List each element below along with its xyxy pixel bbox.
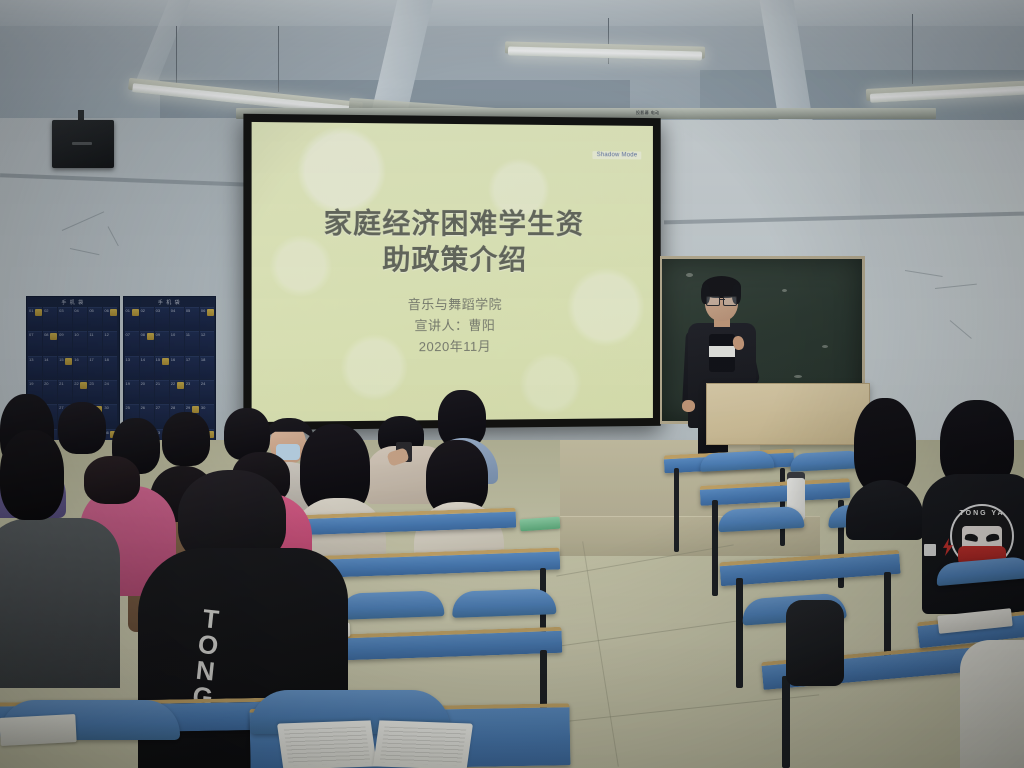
pocket-cell[interactable]: 08 (140, 331, 154, 354)
pocket-number: 23 (186, 381, 190, 386)
projection-screen: Shadow Mode 家庭经济困难学生资 助政策介绍 音乐与舞蹈学院 宣讲人：… (243, 114, 660, 430)
pocket-cell[interactable]: 08 (43, 331, 57, 354)
pocket-number: 02 (141, 308, 145, 313)
student-torso (846, 480, 924, 540)
desk-leg-r4a (782, 676, 790, 768)
presenter-left-hand (682, 400, 695, 412)
student-beige-center (420, 440, 496, 552)
pocket-cell[interactable]: 12 (200, 331, 214, 354)
pocket-number: 13 (126, 357, 130, 362)
pocket-number: 08 (141, 332, 145, 337)
pocket-number: 05 (186, 308, 190, 313)
hoodie-emblem-text: TONG YA (946, 510, 1018, 517)
pocket-number: 24 (201, 381, 205, 386)
pocket-cell[interactable]: 23 (88, 380, 102, 403)
pocket-cell[interactable]: 12 (103, 331, 117, 354)
slide-subtitle-presenter: 宣讲人：曹阳 (252, 314, 653, 337)
student-torso (0, 518, 120, 688)
student-torso (960, 640, 1024, 768)
pocket-number: 19 (126, 381, 130, 386)
slide-surface: Shadow Mode 家庭经济困难学生资 助政策介绍 音乐与舞蹈学院 宣讲人：… (252, 122, 653, 422)
pocket-cell[interactable]: 22 (73, 380, 87, 403)
pocket-number: 20 (44, 381, 48, 386)
pocket-number: 03 (59, 308, 63, 313)
pocket-number: 27 (156, 405, 160, 410)
pocket-cell[interactable]: 23 (185, 380, 199, 403)
pocket-cell[interactable]: 18 (200, 356, 214, 379)
pocket-number: 25 (126, 405, 130, 410)
pocket-cell[interactable]: 24 (200, 380, 214, 403)
chalk-mark-4 (794, 375, 802, 378)
pocket-number: 10 (74, 332, 78, 337)
pocket-cell[interactable]: 17 (185, 356, 199, 379)
desk-leg-r3a (736, 578, 743, 688)
pocket-number: 29 (186, 405, 190, 410)
pocket-cell[interactable]: 17 (88, 356, 102, 379)
hoodie-number-tag (924, 544, 936, 556)
pocket-cell[interactable]: 11 (88, 331, 102, 354)
pocket-number: 20 (141, 381, 145, 386)
pocket-number: 04 (74, 308, 78, 313)
pocket-number: 18 (104, 357, 108, 362)
stored-phone (35, 309, 42, 316)
student-right-1 (846, 398, 924, 528)
pocket-number: 26 (141, 405, 145, 410)
pocket-cell[interactable]: 15 (58, 356, 72, 379)
pocket-cell[interactable]: 03 (58, 307, 72, 330)
pocket-cell[interactable]: 13 (28, 356, 42, 379)
open-book (280, 722, 472, 768)
pocket-number: 07 (126, 332, 130, 337)
pocket-cell[interactable]: 05 (88, 307, 102, 330)
pocket-number: 06 (104, 308, 108, 313)
projector-housing-label: 投影幕 电动 (636, 110, 660, 116)
book-text-lines (380, 727, 467, 766)
pocket-cell[interactable]: 10 (73, 331, 87, 354)
pocket-cell[interactable]: 01 (125, 307, 139, 330)
pocket-number: 21 (156, 381, 160, 386)
pocket-number: 22 (74, 381, 78, 386)
pocket-number: 14 (141, 357, 145, 362)
pocket-cell[interactable]: 03 (155, 307, 169, 330)
pocket-number: 16 (74, 357, 78, 362)
stored-phone (132, 309, 139, 316)
backpack (786, 600, 844, 686)
pocket-number: 07 (29, 332, 33, 337)
pocket-number: 23 (89, 381, 93, 386)
pocket-cell[interactable]: 02 (140, 307, 154, 330)
pocket-cell[interactable]: 15 (155, 356, 169, 379)
stored-phone (80, 382, 87, 389)
pocket-number: 06 (201, 308, 205, 313)
pocket-row: 131415161718 (28, 356, 118, 379)
chalk-mark-2 (782, 289, 787, 292)
pocket-number: 09 (156, 332, 160, 337)
glasses-icon (706, 296, 737, 304)
pocket-panel-left-header: 手 机 袋 (28, 298, 118, 307)
pocket-number: 14 (44, 357, 48, 362)
pocket-row: 010203040506 (125, 307, 215, 330)
slide-subtitle-block: 音乐与舞蹈学院 宣讲人：曹阳 2020年11月 (252, 294, 653, 359)
glasses-bridge (719, 299, 725, 300)
pocket-cell[interactable]: 18 (103, 356, 117, 379)
pocket-number: 19 (29, 381, 33, 386)
pocket-number: 13 (29, 357, 33, 362)
pocket-row: 192021222324 (125, 380, 215, 403)
slide-subtitle-department: 音乐与舞蹈学院 (252, 294, 653, 316)
student-hair (0, 430, 64, 520)
pocket-cell[interactable]: 11 (185, 331, 199, 354)
pocket-panel-right-header: 手 机 袋 (125, 298, 215, 307)
pocket-number: 30 (201, 405, 205, 410)
slide-title-line1: 家庭经济困难学生资 (282, 205, 623, 242)
pocket-cell[interactable]: 20 (140, 380, 154, 403)
pocket-number: 12 (104, 332, 108, 337)
desk-leg-r2a (712, 500, 718, 596)
chalk-mark-3 (822, 345, 828, 348)
book-page-left (277, 720, 377, 768)
presenter-shirt-stripe (709, 346, 735, 357)
pocket-cell[interactable]: 14 (43, 356, 57, 379)
chair-right-3 (717, 506, 804, 532)
desk-leg-r1a (674, 468, 679, 552)
pocket-cell[interactable]: 06 (103, 307, 117, 330)
pocket-cell[interactable]: 16 (170, 356, 184, 379)
classroom-scene: 投影幕 电动 Shadow Mode 家庭经济困难学生资 助政策介绍 音乐与舞蹈… (0, 0, 1024, 768)
pocket-number: 04 (171, 308, 175, 313)
pocket-number: 17 (89, 357, 93, 362)
pocket-cell[interactable]: 09 (155, 331, 169, 354)
pocket-cell[interactable]: 24 (103, 380, 117, 403)
stored-phone (207, 309, 214, 316)
pocket-cell[interactable]: 14 (140, 356, 154, 379)
stored-phone (110, 309, 117, 316)
student-back-6 (160, 412, 216, 472)
shadow-mode-badge: Shadow Mode (593, 151, 641, 159)
pocket-number: 21 (59, 381, 63, 386)
light-wire-4 (912, 14, 913, 84)
stored-phone (65, 358, 72, 365)
speaker-badge (72, 142, 92, 145)
pocket-cell[interactable]: 01 (28, 307, 42, 330)
pocket-number: 22 (171, 381, 175, 386)
pocket-number: 03 (156, 308, 160, 313)
pocket-cell[interactable]: 21 (155, 380, 169, 403)
pocket-cell[interactable]: 10 (170, 331, 184, 354)
chair-mid-2 (452, 588, 557, 618)
stored-phone (177, 382, 184, 389)
pocket-number: 01 (126, 308, 130, 313)
stored-phone (147, 333, 154, 340)
pocket-cell[interactable]: 02 (43, 307, 57, 330)
student-hair (162, 412, 210, 466)
book-page-right (373, 720, 473, 768)
pocket-number: 28 (171, 405, 175, 410)
pocket-row: 010203040506 (28, 307, 118, 330)
student-hair (84, 456, 140, 504)
pocket-number: 10 (171, 332, 175, 337)
pocket-number: 05 (89, 308, 93, 313)
book-text-lines (284, 727, 371, 766)
pocket-cell[interactable]: 04 (73, 307, 87, 330)
pocket-cell[interactable]: 07 (125, 331, 139, 354)
slide-subtitle-date: 2020年11月 (252, 335, 653, 358)
pocket-number: 15 (59, 357, 63, 362)
chair-mid-1 (340, 590, 445, 620)
pocket-number: 15 (156, 357, 160, 362)
pocket-number: 08 (44, 332, 48, 337)
stored-phone (50, 333, 57, 340)
pocket-row: 070809101112 (28, 331, 118, 354)
pocket-number: 02 (44, 308, 48, 313)
pocket-row: 131415161718 (125, 356, 215, 379)
pocket-cell[interactable]: 19 (125, 380, 139, 403)
ceiling-beam-front (0, 0, 1024, 26)
pocket-number: 17 (186, 357, 190, 362)
pocket-cell[interactable]: 06 (200, 307, 214, 330)
pocket-cell[interactable]: 09 (58, 331, 72, 354)
pocket-number: 18 (201, 357, 205, 362)
light-wire-2 (278, 26, 279, 92)
notebook-stack (0, 714, 77, 746)
pocket-cell[interactable]: 05 (185, 307, 199, 330)
slide-title-line2: 助政策介绍 (282, 241, 623, 277)
pocket-number: 01 (29, 308, 33, 313)
pocket-number: 09 (59, 332, 63, 337)
student-fg-far-left (0, 430, 80, 540)
slide-title: 家庭经济困难学生资 助政策介绍 (252, 205, 653, 278)
pocket-cell[interactable]: 22 (170, 380, 184, 403)
pocket-row: 070809101112 (125, 331, 215, 354)
pocket-number: 11 (89, 332, 93, 337)
pocket-cell[interactable]: 04 (170, 307, 184, 330)
pocket-number: 12 (201, 332, 205, 337)
pocket-cell[interactable]: 16 (73, 356, 87, 379)
pocket-number: 16 (171, 357, 175, 362)
pocket-cell[interactable]: 13 (125, 356, 139, 379)
student-right-2 (960, 640, 1024, 768)
pocket-number: 24 (104, 381, 108, 386)
pocket-number: 11 (186, 332, 190, 337)
pocket-cell[interactable]: 07 (28, 331, 42, 354)
stored-phone (162, 358, 169, 365)
